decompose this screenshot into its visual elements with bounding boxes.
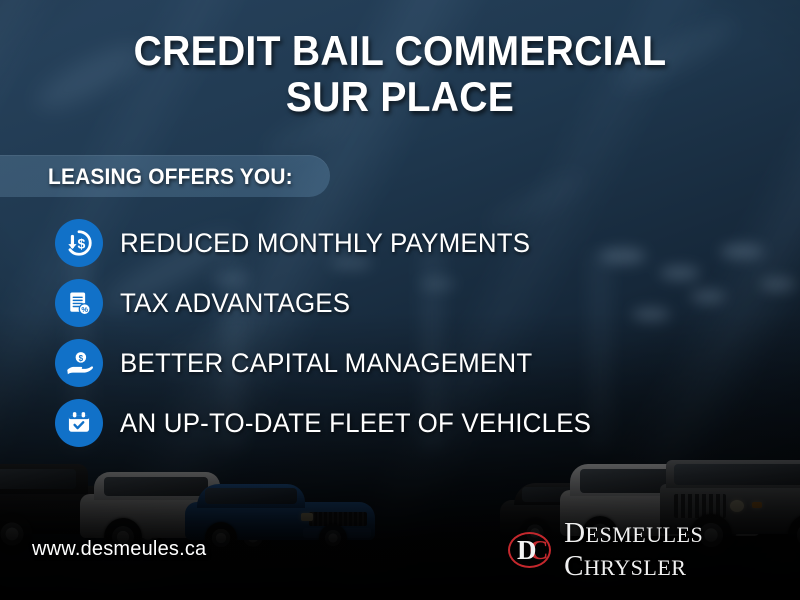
page-title: CREDIT BAIL COMMERCIAL SUR PLACE bbox=[28, 28, 772, 120]
benefits-list: $ REDUCED MONTHLY PAYMENTS % TAX ADVANTA bbox=[0, 213, 800, 453]
logo-word-chrysler-rest: HRYSLER bbox=[584, 555, 687, 580]
logo-word-desmeules-cap: D bbox=[564, 517, 585, 549]
headline-line-2: SUR PLACE bbox=[28, 74, 772, 120]
benefit-item: $ REDUCED MONTHLY PAYMENTS bbox=[0, 213, 800, 273]
logo-word-desmeules-rest: ESMEULES bbox=[586, 522, 704, 547]
benefit-item: $ BETTER CAPITAL MANAGEMENT bbox=[0, 333, 800, 393]
desmeules-chrysler-logo[interactable]: C D DESMEULES CHRYSLER bbox=[505, 528, 800, 572]
logo-letter-d: D bbox=[517, 530, 537, 570]
svg-text:$: $ bbox=[79, 354, 84, 363]
benefit-label: AN UP-TO-DATE FLEET OF VEHICLES bbox=[120, 408, 591, 439]
promotional-banner: CREDIT BAIL COMMERCIAL SUR PLACE LEASING… bbox=[0, 0, 800, 600]
benefit-item: AN UP-TO-DATE FLEET OF VEHICLES bbox=[0, 393, 800, 453]
logo-wordmark: DESMEULES CHRYSLER bbox=[564, 517, 800, 583]
document-percent-icon: % bbox=[55, 279, 103, 327]
hand-coin-icon: $ bbox=[55, 339, 103, 387]
headline-line-1: CREDIT BAIL COMMERCIAL bbox=[134, 27, 667, 74]
website-url[interactable]: www.desmeules.ca bbox=[32, 538, 206, 561]
benefit-label: REDUCED MONTHLY PAYMENTS bbox=[120, 228, 530, 259]
money-down-arrow-icon: $ bbox=[55, 219, 103, 267]
leasing-offers-banner: LEASING OFFERS YOU: bbox=[0, 155, 330, 197]
calendar-check-icon bbox=[55, 399, 103, 447]
svg-text:$: $ bbox=[77, 236, 85, 252]
benefit-label: BETTER CAPITAL MANAGEMENT bbox=[120, 348, 532, 379]
svg-text:%: % bbox=[81, 305, 88, 314]
leasing-offers-label: LEASING OFFERS YOU: bbox=[48, 164, 293, 190]
dc-monogram-icon: C D bbox=[505, 530, 554, 570]
logo-word-chrysler-cap: C bbox=[564, 550, 584, 582]
benefit-item: % TAX ADVANTAGES bbox=[0, 273, 800, 333]
benefit-label: TAX ADVANTAGES bbox=[120, 288, 350, 319]
